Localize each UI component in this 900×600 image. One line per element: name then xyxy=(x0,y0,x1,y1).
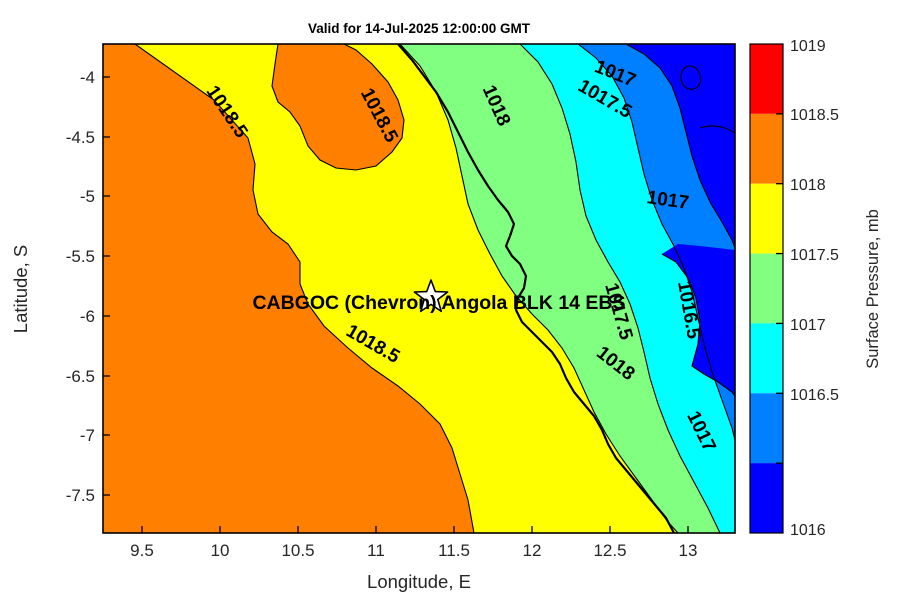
colorbar-tick-label: 1016.5 xyxy=(790,387,839,404)
colorbar-tick-label: 1017.5 xyxy=(790,247,839,264)
colorbar-tick-label: 1019 xyxy=(790,38,826,55)
x-tick-label: 10 xyxy=(211,541,230,560)
y-tick-label: -4 xyxy=(80,68,95,87)
y-tick-label: -7 xyxy=(80,426,95,445)
y-tick-label: -4.5 xyxy=(66,128,95,147)
x-axis-title: Longitude, E xyxy=(367,571,471,592)
colorbar-title: Surface Pressure, mb xyxy=(864,209,882,369)
x-tick-label: 12 xyxy=(523,541,542,560)
x-tick-label: 9.5 xyxy=(130,541,154,560)
y-tick-label: -7.5 xyxy=(66,486,95,505)
station-label: CABGOC (Chevron) Angola BLK 14 EBS xyxy=(252,292,625,314)
y-axis-title: Latitude, S xyxy=(10,245,31,333)
x-tick-label: 11.5 xyxy=(438,541,470,560)
y-tick-label: -6 xyxy=(80,307,95,326)
colorbar-tick-label: 1017 xyxy=(790,317,826,334)
contour-field xyxy=(103,44,735,533)
pressure-contour-figure: Valid for 14-Jul-2025 12:00:00 GMT 1018.… xyxy=(0,0,900,600)
x-tick-label: 12.5 xyxy=(593,541,626,560)
y-tick-label: -5.5 xyxy=(66,247,95,266)
colorbar-band-1018.5 xyxy=(750,114,783,184)
colorbar-band-1019 xyxy=(750,44,783,114)
plot-title: Valid for 14-Jul-2025 12:00:00 GMT xyxy=(308,21,531,36)
x-tick-label: 10.5 xyxy=(281,541,314,560)
colorbar-band-1017 xyxy=(750,323,783,393)
colorbar-band-1018 xyxy=(750,184,783,254)
colorbar-tick-label: 1018 xyxy=(790,177,826,194)
colorbar-tick-label: 1016 xyxy=(790,522,826,539)
y-tick-label: -5 xyxy=(80,187,95,206)
colorbar-tick-label: 1018.5 xyxy=(790,107,839,124)
x-tick-label: 13 xyxy=(679,541,698,560)
x-tick-label: 11 xyxy=(367,541,385,560)
y-tick-label: -6.5 xyxy=(66,367,95,386)
colorbar-band-1017.5 xyxy=(750,254,783,324)
colorbar-band-1016 xyxy=(750,463,783,533)
colorbar-band-1016.5 xyxy=(750,393,783,463)
